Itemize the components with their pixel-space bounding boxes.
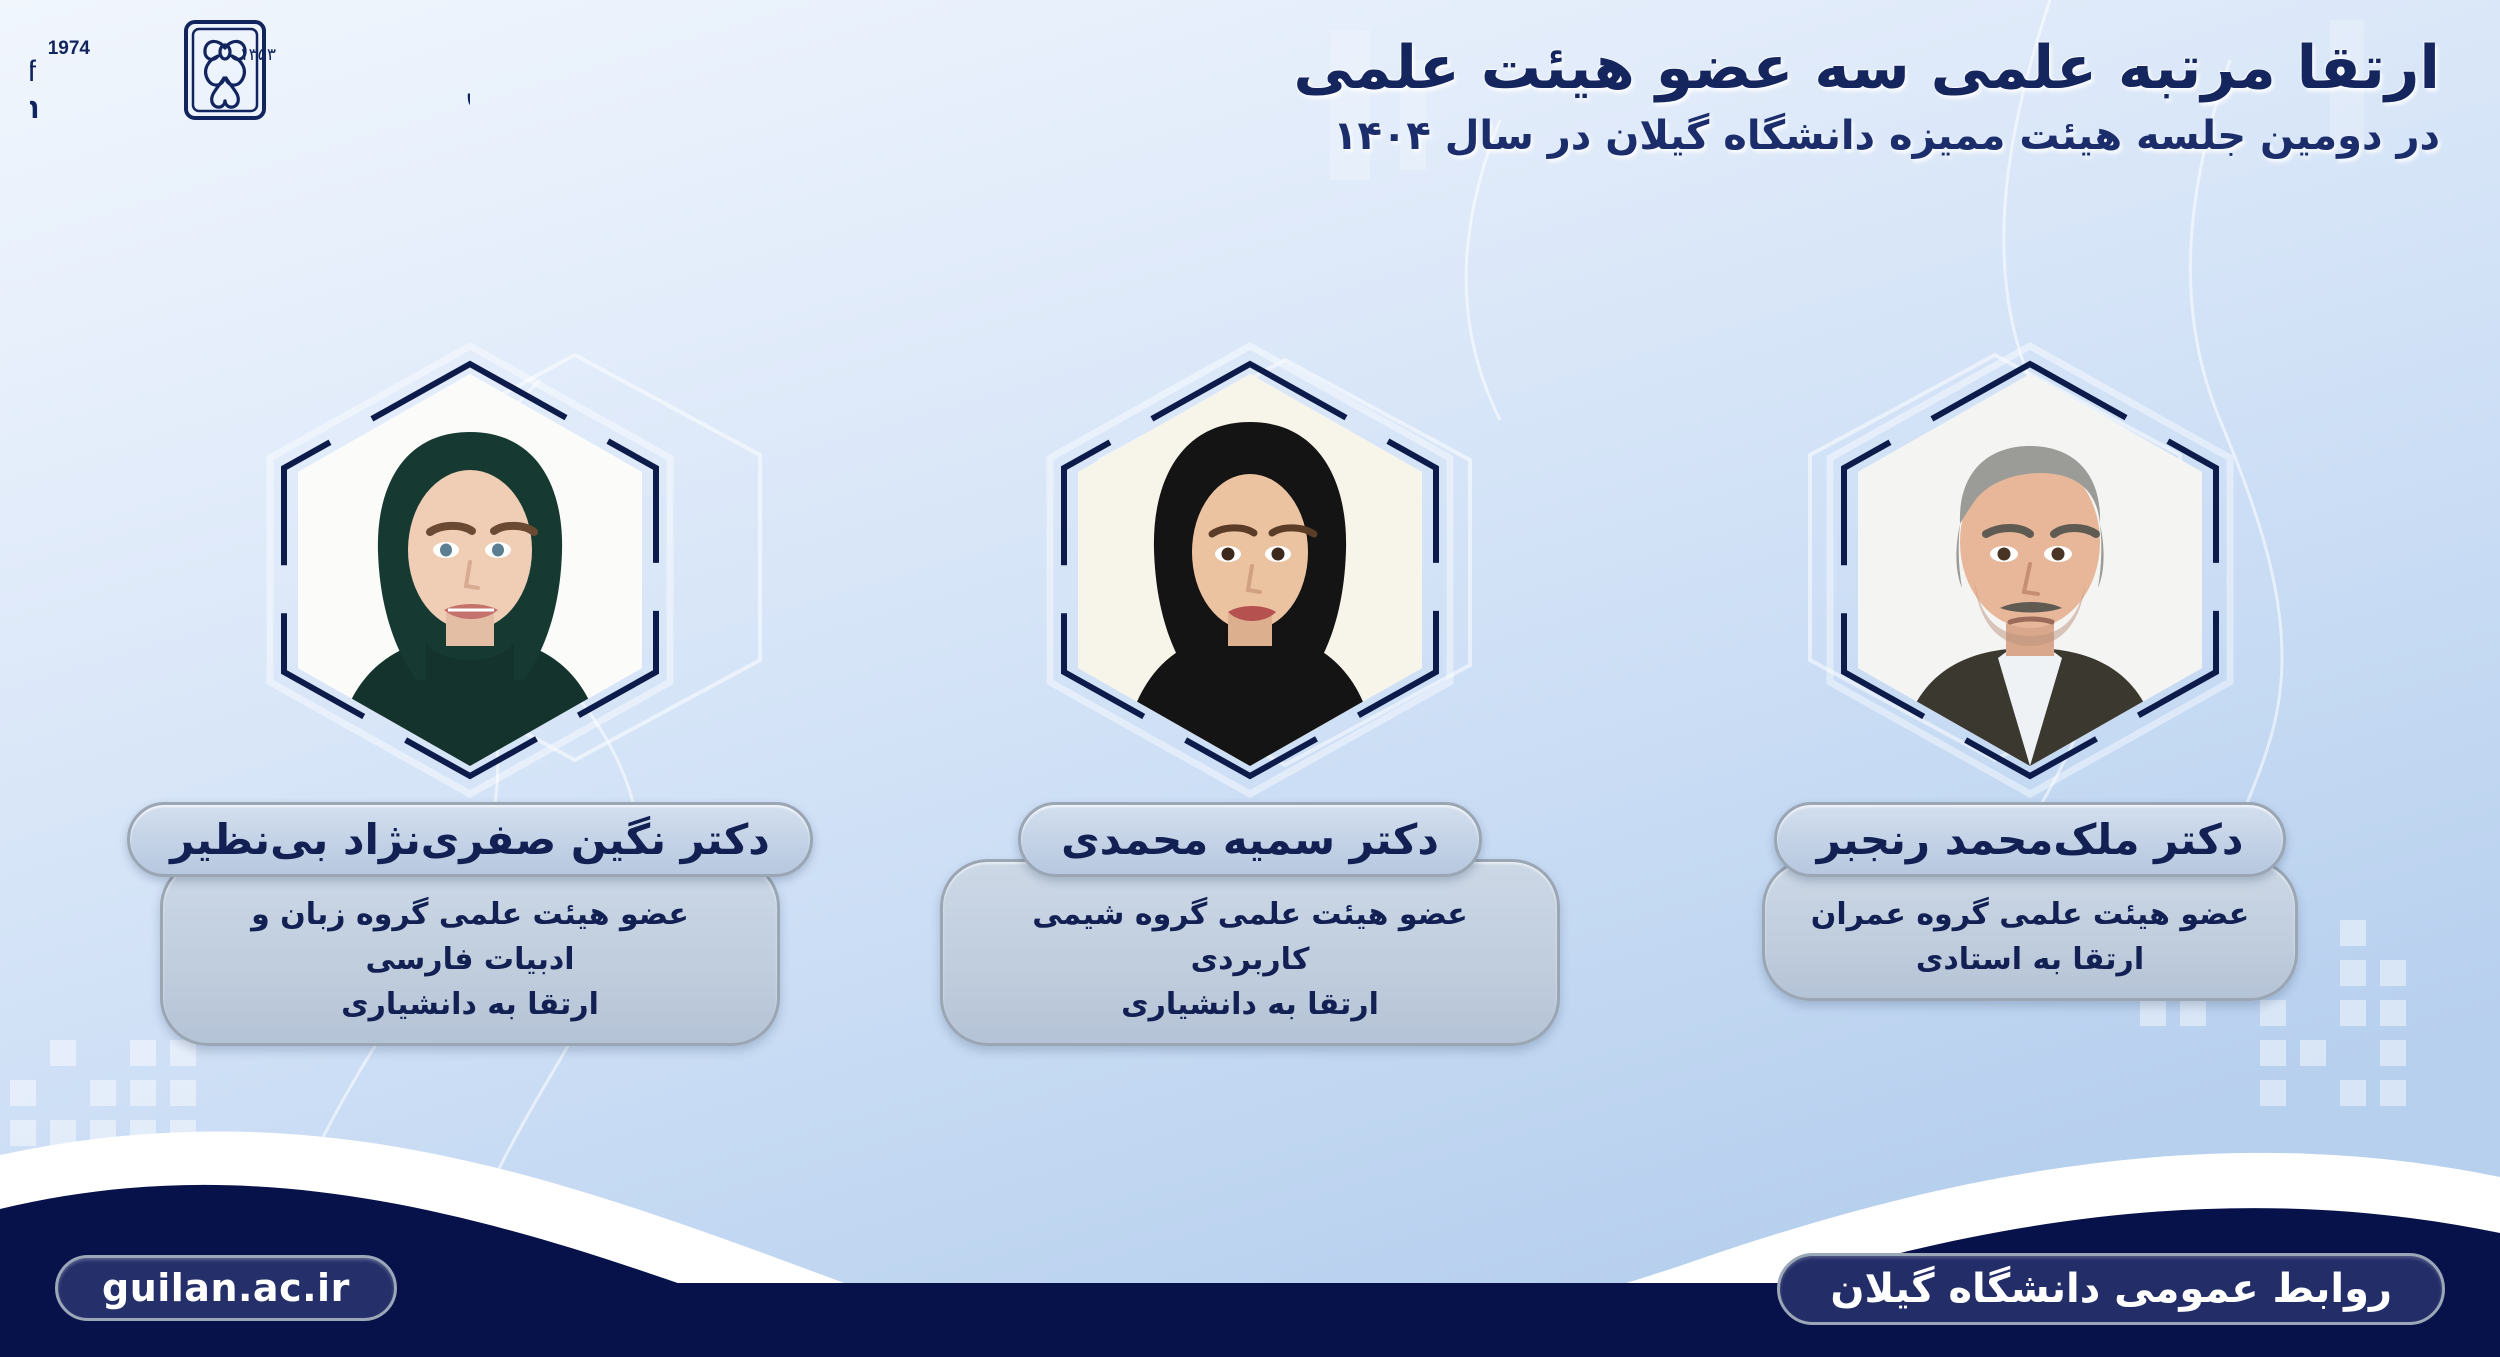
svg-text:۱۳۵۳: ۱۳۵۳ [239, 45, 276, 65]
honoree-promotion: ارتقا به استادی [1811, 937, 2250, 982]
page-title: ارتقا مرتبه علمی سه عضو هیئت علمی [1293, 34, 2440, 103]
website-link[interactable]: guilan.ac.ir [55, 1255, 397, 1321]
honoree-name: دکتر نگین صفری‌نژاد بی‌نظیر [127, 802, 813, 877]
portrait-frame [1060, 360, 1440, 780]
svg-text:دانشگاه گیلان: دانشگاه گیلان [460, 21, 470, 114]
poster-canvas: 1974 University of Guilan ۱۳۵۳ [0, 0, 2500, 1357]
honoree-card: دکتر سمیه محمدی عضو هیئت علمی گروه شیمی … [940, 360, 1560, 1046]
hex-outline-icon [1060, 360, 1440, 780]
hex-outline-icon [280, 360, 660, 780]
header: ارتقا مرتبه علمی سه عضو هیئت علمی در دوم… [1293, 34, 2440, 159]
svg-text:University of: University of [30, 55, 37, 88]
honoree-card: دکتر ملک‌محمد رنجبر عضو هیئت علمی گروه ع… [1720, 360, 2340, 1046]
honoree-details: عضو هیئت علمی گروه شیمی کاربردی ارتقا به… [940, 859, 1560, 1046]
portrait-frame [1840, 360, 2220, 780]
honoree-card: دکتر نگین صفری‌نژاد بی‌نظیر عضو هیئت علم… [160, 360, 780, 1046]
hex-outline-icon [1840, 360, 2220, 780]
svg-text:Guilan: Guilan [30, 89, 46, 125]
honoree-details: عضو هیئت علمی گروه عمران ارتقا به استادی [1762, 859, 2299, 1001]
honoree-name: دکتر سمیه محمدی [1018, 802, 1482, 877]
portrait-frame [280, 360, 660, 780]
honoree-affiliation: عضو هیئت علمی گروه شیمی کاربردی [1032, 897, 1468, 977]
honoree-name: دکتر ملک‌محمد رنجبر [1774, 802, 2287, 877]
honoree-details: عضو هیئت علمی گروه زبان و ادبیات فارسی ا… [160, 859, 780, 1046]
honoree-promotion: ارتقا به دانشیاری [989, 982, 1511, 1027]
page-subtitle: در دومین جلسه هیئت ممیزه دانشگاه گیلان د… [1293, 113, 2440, 159]
honoree-affiliation: عضو هیئت علمی گروه زبان و ادبیات فارسی [251, 897, 689, 977]
public-relations-badge: روابط عمومی دانشگاه گیلان [1777, 1253, 2445, 1325]
honoree-affiliation: عضو هیئت علمی گروه عمران [1811, 897, 2250, 932]
svg-text:1974: 1974 [48, 38, 91, 59]
university-logo: 1974 University of Guilan ۱۳۵۳ [30, 8, 470, 128]
honoree-promotion: ارتقا به دانشیاری [209, 982, 731, 1027]
honorees-row: دکتر نگین صفری‌نژاد بی‌نظیر عضو هیئت علم… [0, 360, 2500, 1046]
